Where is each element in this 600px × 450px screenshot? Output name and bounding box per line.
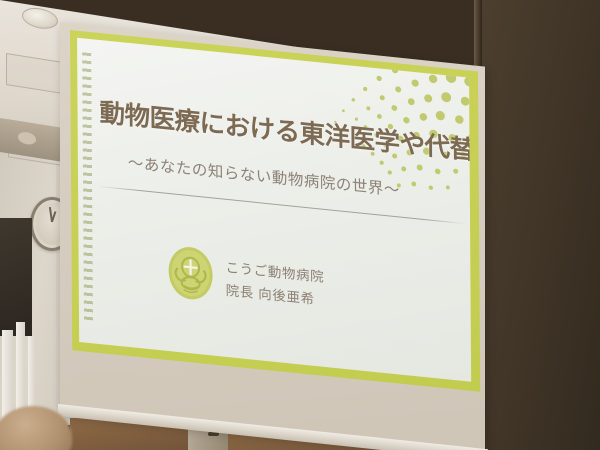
projected-slide: 動物医療における東洋医学や代替医療 〜あなたの知らない動物病院の世界〜 (70, 30, 480, 392)
dark-wall (480, 0, 600, 450)
slide-border-frame: 動物医療における東洋医学や代替医療 〜あなたの知らない動物病院の世界〜 (70, 30, 480, 392)
white-stand (28, 336, 35, 416)
slide-credit: こうご動物病院 院長 向後亜希 (166, 243, 324, 315)
clinic-logo-icon (166, 243, 214, 304)
beam-knob (18, 131, 36, 146)
clock-minute-hand (49, 207, 53, 222)
white-stand (16, 322, 25, 417)
screenshot-root: 動物医療における東洋医学や代替医療 〜あなたの知らない動物病院の世界〜 (0, 0, 600, 450)
dark-wall-panel (0, 218, 32, 336)
credit-text-lines: こうご動物病院 院長 向後亜希 (225, 255, 324, 308)
slide-content: 動物医療における東洋医学や代替医療 〜あなたの知らない動物病院の世界〜 (77, 38, 471, 382)
ceiling-downlight (22, 5, 58, 31)
ceiling-access-panel (6, 53, 64, 94)
edge-dot-strip (82, 52, 93, 323)
